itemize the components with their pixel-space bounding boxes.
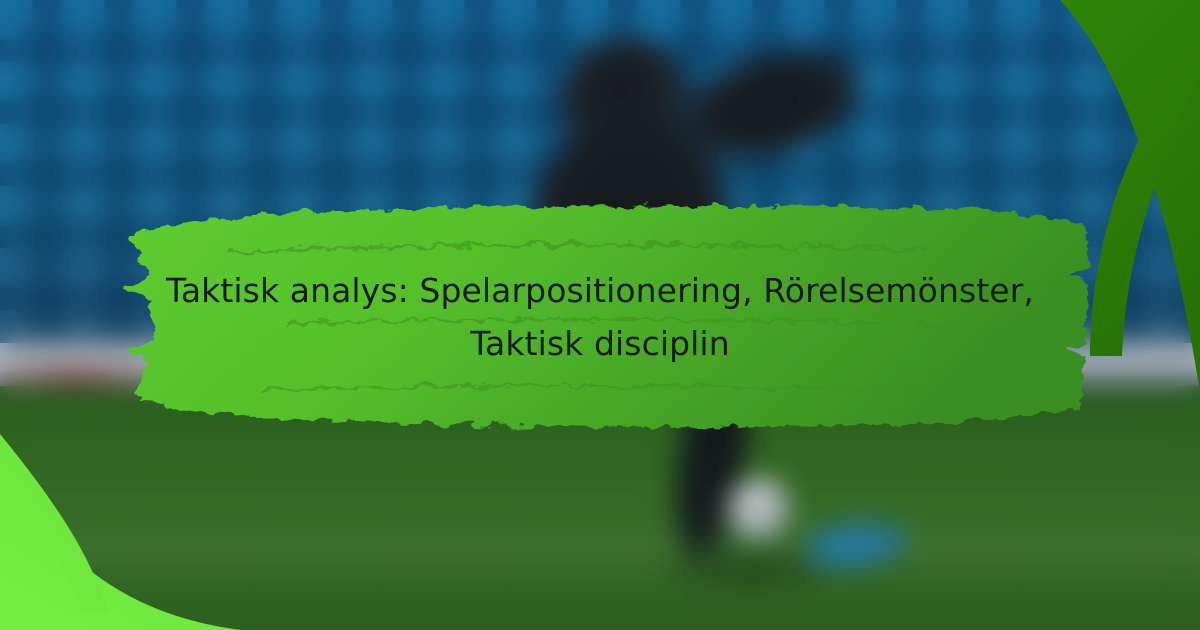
social-card-canvas: Taktisk analys: Spelarpositionering, Rör…	[0, 0, 1200, 630]
headline-text: Taktisk analys: Spelarpositionering, Rör…	[0, 264, 1200, 371]
